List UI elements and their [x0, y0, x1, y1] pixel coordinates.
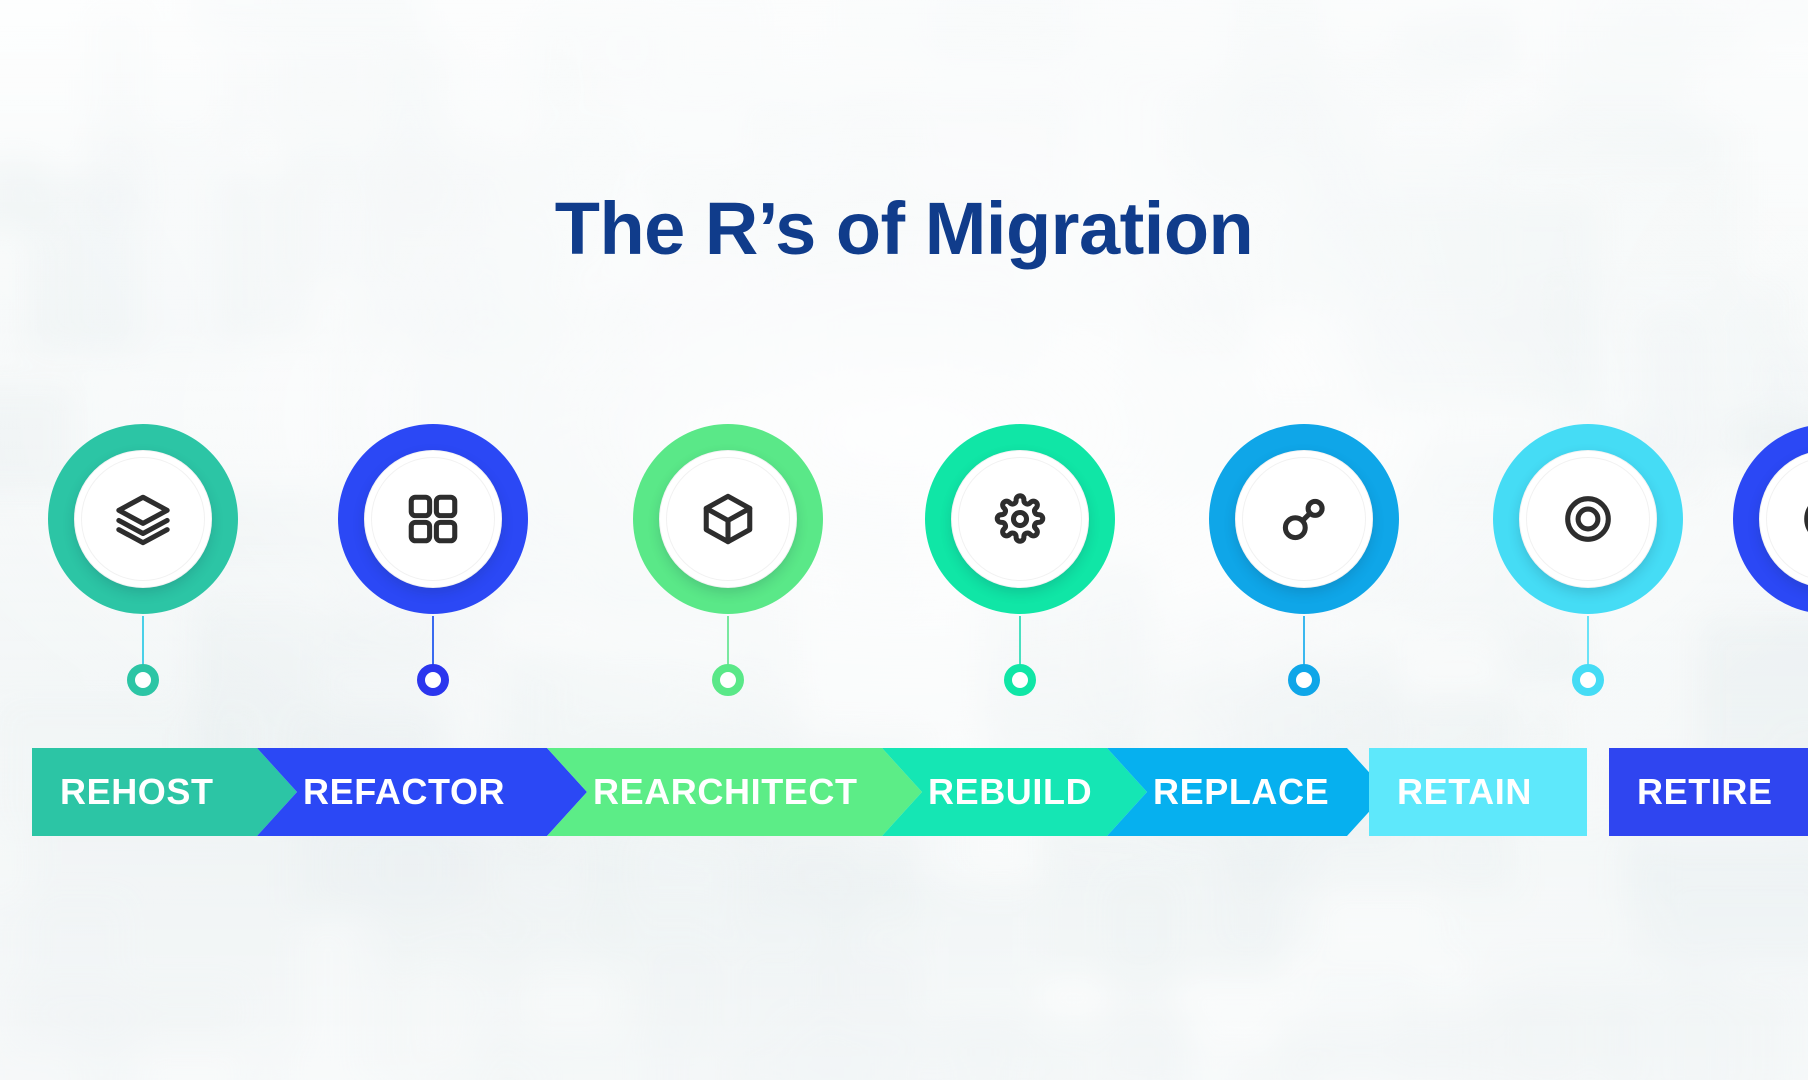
banner-segment-rehost[interactable]: REHOST	[32, 748, 297, 836]
connector-stem	[1303, 616, 1305, 668]
close-circle-icon	[1799, 490, 1808, 548]
badge-inner-disc	[1235, 450, 1373, 588]
connector-stem	[1019, 616, 1021, 668]
icon-badge-replace[interactable]	[1209, 424, 1399, 614]
badge-inner-disc	[951, 450, 1089, 588]
icon-badge-retain[interactable]	[1493, 424, 1683, 614]
banner-label: RETIRE	[1637, 771, 1773, 813]
connector-dot	[712, 664, 744, 696]
connector-stem	[142, 616, 144, 668]
icon-badge-rebuild[interactable]	[925, 424, 1115, 614]
connector-stem	[1587, 616, 1589, 668]
banner-segment-refactor[interactable]: REFACTOR	[257, 748, 587, 836]
badge-inner-disc	[364, 450, 502, 588]
banner-segment-replace[interactable]: REPLACE	[1107, 748, 1387, 836]
connector-rearchitect	[708, 616, 748, 726]
nodes-link-icon	[1275, 490, 1333, 548]
cube-icon	[699, 490, 757, 548]
connector-dot	[417, 664, 449, 696]
connector-retain	[1568, 616, 1608, 726]
banner-segment-rearchitect[interactable]: REARCHITECT	[547, 748, 922, 836]
banner-label: REFACTOR	[303, 771, 505, 813]
connector-dot	[1572, 664, 1604, 696]
page-title: The R’s of Migration	[0, 192, 1808, 266]
connector-rebuild	[1000, 616, 1040, 726]
icon-badge-refactor[interactable]	[338, 424, 528, 614]
connector-stem	[432, 616, 434, 668]
gear-icon	[991, 490, 1049, 548]
icon-badge-rehost[interactable]	[48, 424, 238, 614]
banner-label: REPLACE	[1153, 771, 1329, 813]
banner-segment-retire[interactable]: RETIRE	[1609, 748, 1808, 836]
banner-segment-retain[interactable]: RETAIN	[1369, 748, 1587, 836]
infographic-canvas: The R’s of Migration REHOSTREFACTORREARC…	[0, 0, 1808, 1080]
connector-refactor	[413, 616, 453, 726]
process-banner: REHOSTREFACTORREARCHITECTREBUILDREPLACER…	[32, 748, 1776, 836]
connector-dot	[1004, 664, 1036, 696]
target-circles-icon	[1559, 490, 1617, 548]
banner-label: REHOST	[60, 771, 214, 813]
connector-row	[48, 616, 1776, 726]
connector-rehost	[123, 616, 163, 726]
connector-stem	[727, 616, 729, 668]
layers-icon	[114, 490, 172, 548]
banner-label: RETAIN	[1397, 771, 1532, 813]
banner-label: REARCHITECT	[593, 771, 858, 813]
badge-inner-disc	[74, 450, 212, 588]
banner-label: REBUILD	[928, 771, 1092, 813]
icon-badge-rearchitect[interactable]	[633, 424, 823, 614]
connector-replace	[1284, 616, 1324, 726]
connector-dot	[127, 664, 159, 696]
connector-dot	[1288, 664, 1320, 696]
grid-squares-icon	[404, 490, 462, 548]
icon-badge-row	[48, 424, 1776, 624]
icon-badge-retire[interactable]	[1733, 424, 1808, 614]
badge-inner-disc	[659, 450, 797, 588]
badge-inner-disc	[1519, 450, 1657, 588]
